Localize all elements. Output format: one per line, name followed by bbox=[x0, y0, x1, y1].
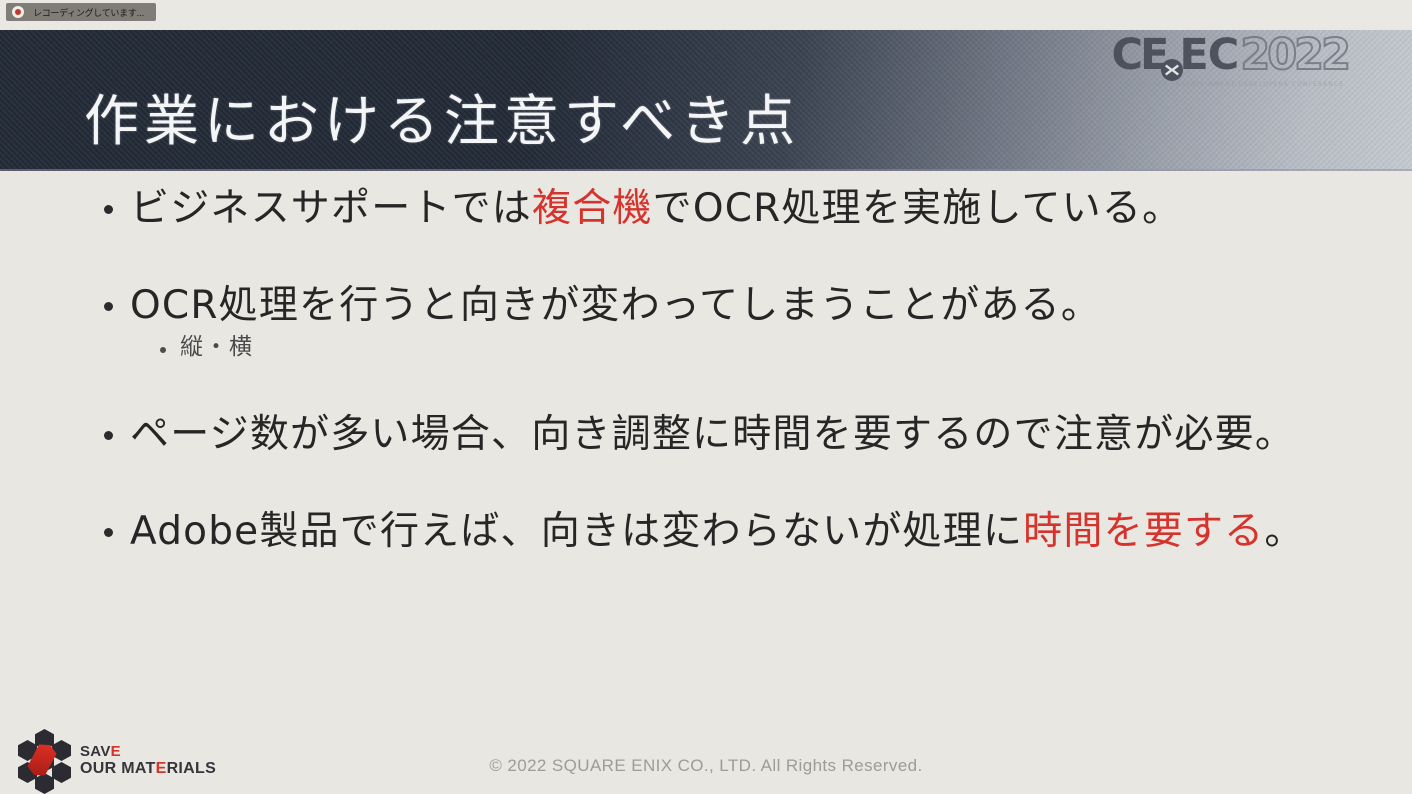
bullet-text: ビジネスサポートでは複合機でOCR処理を実施している。 bbox=[130, 184, 1182, 233]
bullet-item: ビジネスサポートでは複合機でOCR処理を実施している。 bbox=[0, 184, 1412, 233]
sub-bullet-item: 縦・横 bbox=[0, 334, 1412, 362]
highlighted-text: 複合機 bbox=[532, 186, 653, 231]
bullet-item: OCR処理を行うと向きが変わってしまうことがある。 bbox=[0, 281, 1412, 330]
bullet-block: ビジネスサポートでは複合機でOCR処理を実施している。 bbox=[0, 184, 1412, 233]
bullet-text: ページ数が多い場合、向き調整に時間を要するので注意が必要。 bbox=[130, 410, 1295, 459]
recording-label: レコーディングしています... bbox=[33, 6, 144, 19]
sub-bullet-dot-icon bbox=[160, 347, 166, 353]
plain-text: 。 bbox=[1264, 509, 1304, 554]
plain-text: でOCR処理を実施している。 bbox=[653, 186, 1183, 231]
cedec-logo: CE EC 2022 COMPUTER ENTERTAINMENT DEVELO… bbox=[1111, 34, 1348, 88]
plain-text: ビジネスサポートでは bbox=[130, 186, 532, 231]
bullet-item: ページ数が多い場合、向き調整に時間を要するので注意が必要。 bbox=[0, 410, 1412, 459]
bullet-block: Adobe製品で行えば、向きは変わらないが処理に時間を要する。 bbox=[0, 507, 1412, 556]
bullet-dot-icon bbox=[104, 528, 113, 537]
page-title: 作業における注意すべき点 bbox=[84, 76, 800, 156]
bullet-dot-icon bbox=[104, 302, 113, 311]
os-recording-strip: レコーディングしています... bbox=[0, 0, 1412, 28]
record-dot-icon bbox=[12, 6, 24, 18]
bullet-block: ページ数が多い場合、向き調整に時間を要するので注意が必要。 bbox=[0, 410, 1412, 459]
copyright-notice: © 2022 SQUARE ENIX CO., LTD. All Rights … bbox=[0, 756, 1412, 776]
sub-bullet-text: 縦・横 bbox=[180, 334, 254, 362]
bullet-item: Adobe製品で行えば、向きは変わらないが処理に時間を要する。 bbox=[0, 507, 1412, 556]
screenshot-root: レコーディングしています... 作業における注意すべき点 CE EC 2022 … bbox=[0, 0, 1412, 794]
plain-text: Adobe製品で行えば、向きは変わらないが処理に bbox=[130, 509, 1023, 554]
bullet-dot-icon bbox=[104, 205, 113, 214]
plain-text: OCR処理を行うと向きが変わってしまうことがある。 bbox=[130, 283, 1101, 328]
cedec-wordmark: CE EC 2022 bbox=[1111, 34, 1348, 77]
highlighted-text: 時間を要する bbox=[1023, 509, 1264, 554]
bullet-text: OCR処理を行うと向きが変わってしまうことがある。 bbox=[130, 281, 1101, 330]
presentation-slide: 作業における注意すべき点 CE EC 2022 COMPUTER ENTERTA… bbox=[0, 24, 1412, 794]
bullet-text: Adobe製品で行えば、向きは変わらないが処理に時間を要する。 bbox=[130, 507, 1305, 556]
cedec-mark-middle: EC bbox=[1179, 34, 1238, 77]
cedec-mark-prefix: CE bbox=[1111, 34, 1166, 77]
plain-text: ページ数が多い場合、向き調整に時間を要するので注意が必要。 bbox=[130, 412, 1295, 457]
recording-indicator[interactable]: レコーディングしています... bbox=[6, 3, 156, 21]
bullet-dot-icon bbox=[104, 431, 113, 440]
cedec-x-icon bbox=[1161, 46, 1183, 68]
cedec-year: 2022 bbox=[1240, 34, 1348, 77]
slide-body: ビジネスサポートでは複合機でOCR処理を実施している。OCR処理を行うと向きが変… bbox=[0, 184, 1412, 556]
bullet-block: OCR処理を行うと向きが変わってしまうことがある。縦・横 bbox=[0, 281, 1412, 362]
cedec-tagline: COMPUTER ENTERTAINMENT DEVELOPERS CONFER… bbox=[1111, 82, 1344, 88]
